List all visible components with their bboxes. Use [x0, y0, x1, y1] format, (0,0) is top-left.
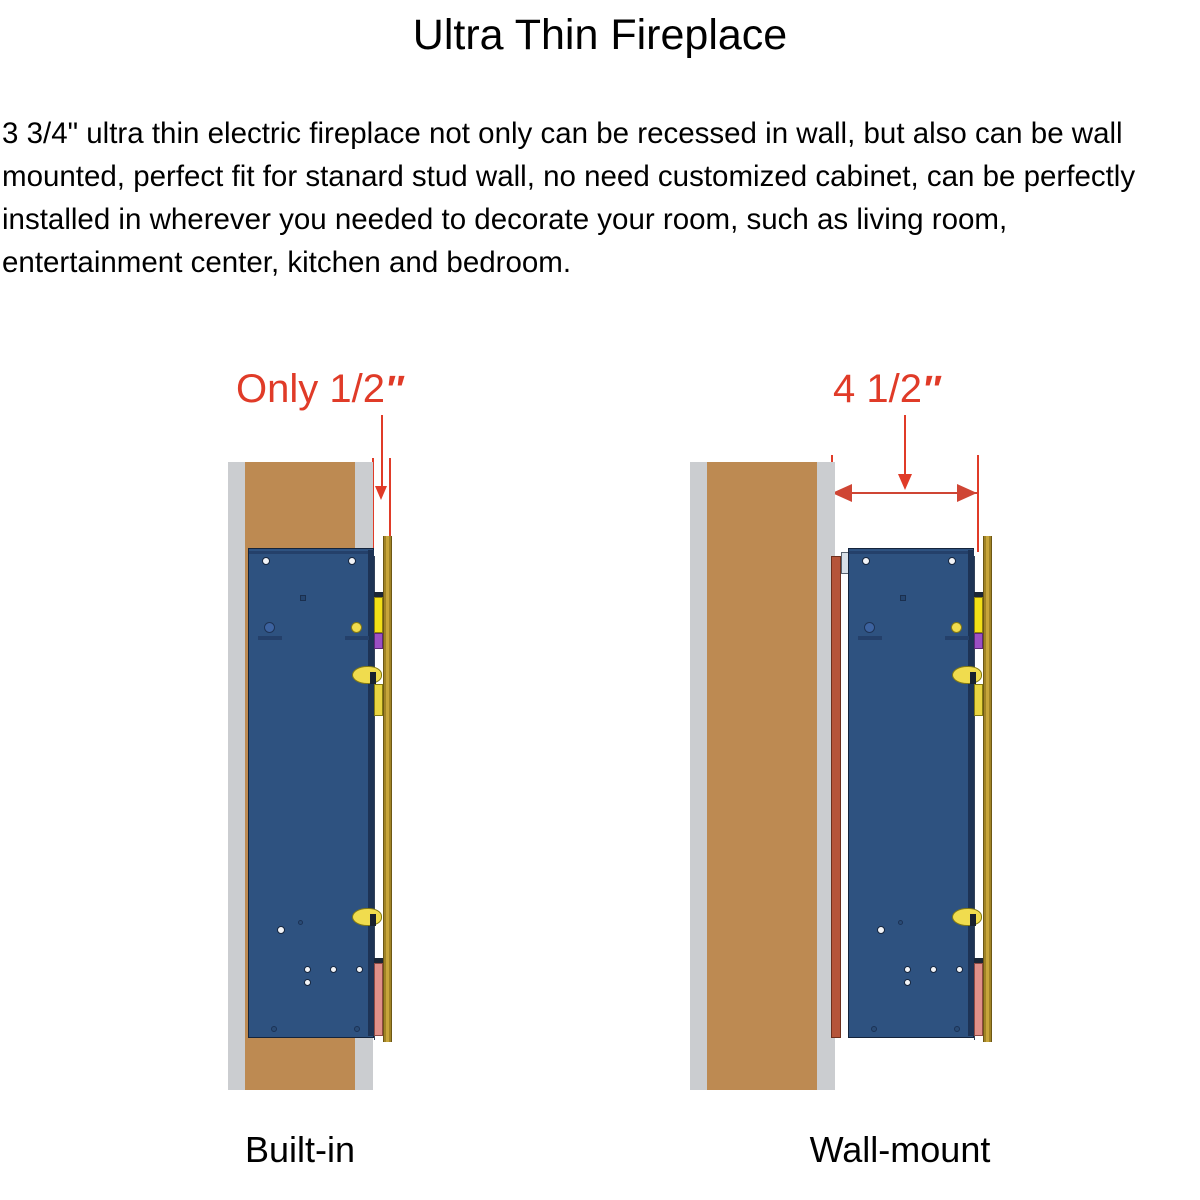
vent-hole [898, 920, 903, 925]
screw-hole [354, 1026, 360, 1032]
screw-hole [948, 557, 956, 565]
label-strip-left [858, 636, 882, 640]
bracket-nub [970, 672, 976, 684]
indicator-badge-left [264, 622, 275, 633]
salmon-hardware-lower [974, 963, 983, 1036]
drywall-layer-left [690, 462, 707, 1090]
dimension-label-wall-mount: 4 1/2″ [833, 368, 940, 411]
purple-connector [974, 633, 983, 649]
indicator-badge-right [951, 622, 962, 633]
label-strip-left [258, 636, 282, 640]
yellow-hardware-upper [374, 597, 383, 633]
screw-hole [348, 557, 356, 565]
bracket-tab-mid [374, 684, 383, 716]
screw-hole [304, 979, 311, 986]
gold-rail-built-in [383, 536, 392, 1042]
purple-connector [374, 633, 383, 649]
caption-wall-mount: Wall-mount [600, 1130, 1200, 1170]
screw-hole [356, 966, 363, 973]
wall-mount-bracket [831, 556, 841, 1038]
dimension-value-built-in: Only 1/2 [236, 367, 385, 411]
indicator-badge-left [864, 622, 875, 633]
bracket-nub [970, 914, 976, 926]
extension-line-right-wall-mount [977, 455, 979, 552]
dimension-arrow-down-built-in [375, 486, 387, 500]
screw-hole [277, 926, 285, 934]
screw-hole [954, 1026, 960, 1032]
dimension-leader-wall-mount [904, 415, 906, 477]
dimension-label-built-in: Only 1/2″ [236, 368, 403, 411]
gold-rail-highlight [986, 536, 989, 1042]
salmon-hardware-lower [374, 963, 383, 1036]
bracket-nub [370, 914, 376, 926]
dimension-unit-wall-mount: ″ [922, 369, 940, 411]
caption-built-in: Built-in [0, 1130, 600, 1170]
screw-hole [304, 966, 311, 973]
vent-hole [298, 920, 303, 925]
screw-hole [271, 1026, 277, 1032]
screw-hole [877, 926, 885, 934]
wood-stud-layer [707, 462, 817, 1090]
mounting-bracket-mid [952, 666, 982, 684]
dimension-unit-built-in: ″ [385, 369, 403, 411]
panel-mark [900, 595, 906, 601]
dimension-arrow-left-wall-mount [832, 484, 852, 502]
screw-hole [862, 557, 870, 565]
dimension-arrow-right-wall-mount [957, 484, 977, 502]
indicator-badge-right [351, 622, 362, 633]
bracket-tab-mid [974, 684, 983, 716]
screw-hole [930, 966, 937, 973]
screw-hole [904, 966, 911, 973]
gold-rail-wall-mount [983, 536, 992, 1042]
screw-hole [262, 557, 270, 565]
mounting-bracket-lower [352, 908, 382, 926]
label-strip-right [945, 636, 969, 640]
diagram-wall-mount: 4 1/2″ Wall-mount [600, 0, 1200, 1200]
diagram-built-in: Only 1/2″ Built-in [0, 0, 600, 1200]
screw-hole [904, 979, 911, 986]
drywall-layer-left [228, 462, 245, 1090]
dimension-arrow-down-wall-mount [898, 474, 912, 490]
mounting-bracket-lower [952, 908, 982, 926]
screw-hole [871, 1026, 877, 1032]
dimension-leader-built-in [381, 415, 383, 490]
dimension-value-wall-mount: 4 1/2 [833, 367, 922, 411]
yellow-hardware-upper [974, 597, 983, 633]
panel-mark [300, 595, 306, 601]
label-strip-right [345, 636, 369, 640]
dimension-line-wall-mount [832, 492, 977, 494]
bracket-nub [370, 672, 376, 684]
screw-hole [956, 966, 963, 973]
mounting-bracket-mid [352, 666, 382, 684]
screw-hole [330, 966, 337, 973]
gold-rail-highlight [386, 536, 389, 1042]
